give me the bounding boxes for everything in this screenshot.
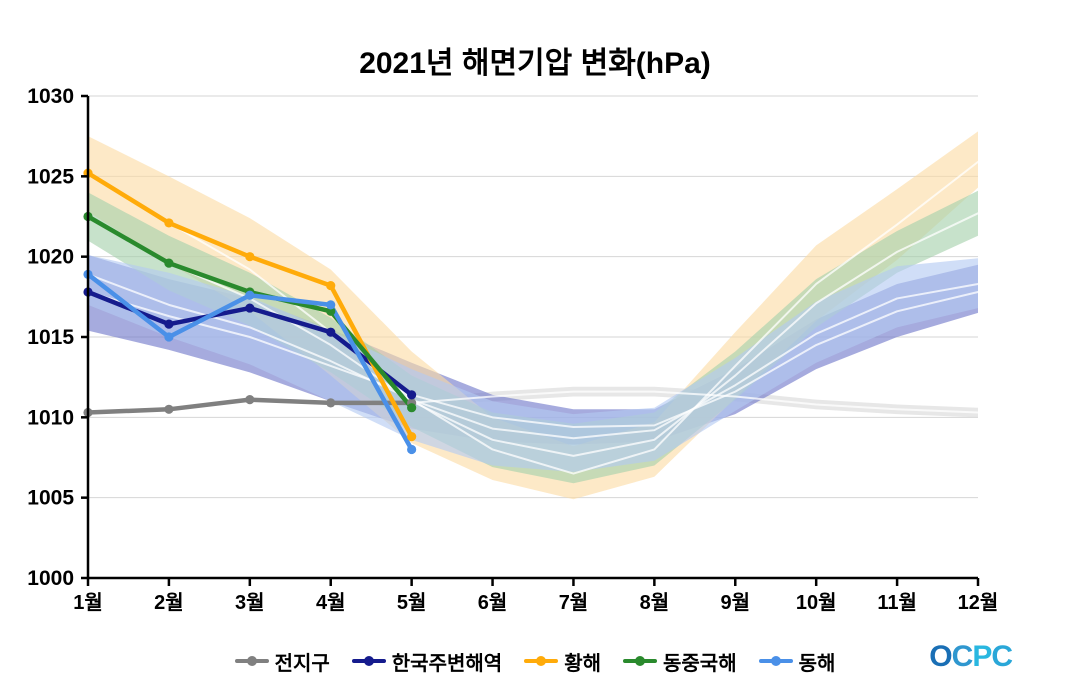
data-point-marker bbox=[164, 320, 173, 329]
x-tick-label: 8월 bbox=[640, 591, 670, 614]
legend-item-4[interactable]: 동중국해 bbox=[623, 647, 737, 676]
x-tick-label: 9월 bbox=[721, 591, 751, 614]
x-tick-label: 11월 bbox=[877, 591, 917, 614]
data-point-marker bbox=[245, 252, 254, 261]
y-tick-label: 1000 bbox=[27, 567, 74, 590]
legend-item-2[interactable]: 한국주변해역 bbox=[352, 647, 502, 676]
legend-swatch-icon bbox=[524, 654, 558, 668]
legend-item-label: 동중국해 bbox=[663, 647, 737, 676]
data-point-marker bbox=[164, 332, 173, 341]
data-point-marker bbox=[326, 300, 335, 309]
data-point-marker bbox=[164, 405, 173, 414]
legend-swatch-icon bbox=[352, 654, 386, 668]
data-point-marker bbox=[164, 258, 173, 267]
legend-swatch-icon bbox=[623, 654, 657, 668]
x-tick-label: 7월 bbox=[559, 591, 589, 614]
x-axis-tick-labels: 1월2월3월4월5월6월7월8월9월10월11월12월 bbox=[73, 591, 998, 614]
data-point-marker bbox=[245, 395, 254, 404]
x-tick-label: 2월 bbox=[154, 591, 184, 614]
legend-item-1[interactable]: 전지구 bbox=[235, 647, 330, 676]
chart-container: 2021년 해면기압 변화(hPa) 100010051010101510201… bbox=[0, 0, 1070, 700]
legend-item-3[interactable]: 황해 bbox=[524, 647, 601, 676]
chart-legend: 전지구한국주변해역황해동중국해동해 bbox=[0, 640, 1070, 682]
y-tick-label: 1015 bbox=[27, 326, 74, 349]
data-point-marker bbox=[245, 291, 254, 300]
chart-plot-area: 1000100510101015102010251030 1월2월3월4월5월6… bbox=[0, 0, 1070, 700]
data-point-marker bbox=[407, 390, 416, 399]
x-tick-label: 5월 bbox=[397, 591, 427, 614]
logo-letter-c2: C bbox=[991, 640, 1012, 674]
data-point-marker bbox=[407, 445, 416, 454]
legend-swatch-icon bbox=[235, 654, 269, 668]
y-tick-label: 1030 bbox=[27, 85, 74, 108]
legend-swatch-icon bbox=[759, 654, 793, 668]
legend-item-5[interactable]: 동해 bbox=[759, 647, 836, 676]
ocpc-logo: OCPC bbox=[929, 640, 1012, 674]
logo-letter-o: O bbox=[929, 640, 951, 674]
y-tick-label: 1005 bbox=[27, 487, 74, 510]
y-tick-label: 1020 bbox=[27, 246, 74, 269]
x-tick-label: 4월 bbox=[316, 591, 346, 614]
legend-item-label: 동해 bbox=[799, 647, 836, 676]
logo-letter-c1: C bbox=[952, 640, 973, 674]
logo-letter-p: P bbox=[972, 640, 991, 674]
data-point-marker bbox=[164, 218, 173, 227]
data-point-marker bbox=[326, 281, 335, 290]
data-point-marker bbox=[407, 403, 416, 412]
x-tick-label: 1월 bbox=[73, 591, 103, 614]
legend-item-label: 전지구 bbox=[275, 647, 330, 676]
data-point-marker bbox=[326, 328, 335, 337]
x-tick-label: 10월 bbox=[796, 591, 837, 614]
legend-item-label: 한국주변해역 bbox=[392, 647, 502, 676]
y-axis-tick-labels: 1000100510101015102010251030 bbox=[27, 85, 74, 590]
x-tick-label: 6월 bbox=[478, 591, 508, 614]
y-tick-label: 1010 bbox=[27, 406, 74, 429]
legend-item-label: 황해 bbox=[564, 647, 601, 676]
x-tick-label: 3월 bbox=[235, 591, 265, 614]
y-tick-label: 1025 bbox=[27, 165, 74, 188]
data-point-marker bbox=[407, 432, 416, 441]
data-point-marker bbox=[326, 398, 335, 407]
data-point-marker bbox=[245, 303, 254, 312]
x-tick-label: 12월 bbox=[958, 591, 999, 614]
